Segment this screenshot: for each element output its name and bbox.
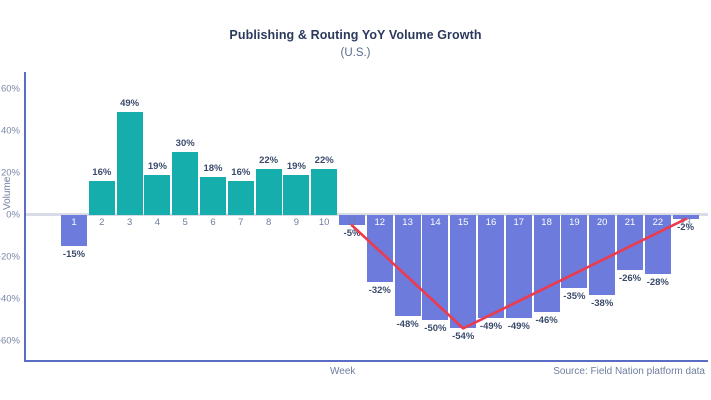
y-tick-label: -60% bbox=[0, 335, 20, 346]
y-tick-label: 40% bbox=[1, 125, 20, 136]
trend-line bbox=[352, 219, 686, 328]
chart-subtitle: (U.S.) bbox=[0, 47, 711, 59]
y-tick-label: 0% bbox=[6, 209, 20, 220]
y-tick-label: 20% bbox=[1, 167, 20, 178]
source-note: Source: Field Nation platform data bbox=[553, 366, 705, 377]
y-tick-label: -40% bbox=[0, 293, 20, 304]
plot-area: 60%40%20%0%-20%-40%-60% -15%116%249%319%… bbox=[24, 72, 708, 362]
chart-container: Publishing & Routing YoY Volume Growth (… bbox=[0, 0, 711, 400]
y-axis-title: Volume bbox=[2, 177, 13, 210]
y-tick-label: 60% bbox=[1, 83, 20, 94]
x-axis-title: Week bbox=[330, 366, 355, 377]
trend-line-layer bbox=[26, 72, 708, 360]
trend-line-svg bbox=[26, 72, 710, 362]
chart-title: Publishing & Routing YoY Volume Growth bbox=[0, 28, 711, 42]
y-tick-label: -20% bbox=[0, 251, 20, 262]
